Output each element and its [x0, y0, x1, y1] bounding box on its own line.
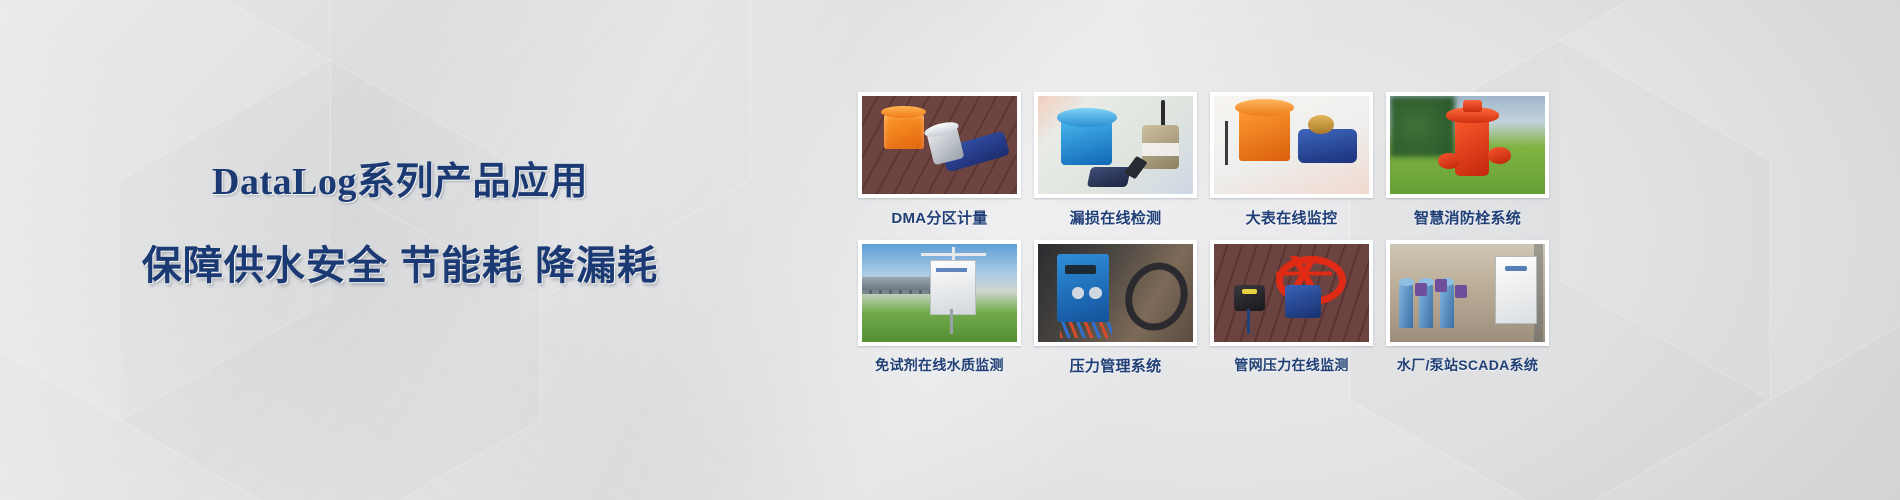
product-thumbnail[interactable]	[1386, 92, 1549, 198]
product-caption: DMA分区计量	[891, 207, 987, 228]
large-meter-online-monitoring-photo	[1214, 96, 1369, 194]
product-caption: 免试剂在线水质监测	[875, 355, 1004, 375]
product-card-water-quality-monitoring[interactable]: 免试剂在线水质监测	[858, 240, 1021, 378]
smart-hydrant-system-photo	[1390, 96, 1545, 194]
product-thumbnail[interactable]	[1034, 240, 1197, 346]
product-thumbnail[interactable]	[1034, 92, 1197, 198]
product-thumbnail[interactable]	[1386, 240, 1549, 346]
pipe-network-pressure-photo	[1214, 244, 1369, 342]
product-application-banner: DataLog系列产品应用 保障供水安全 节能耗 降漏耗 DMA分区计量 漏损在…	[0, 0, 1900, 500]
product-caption: 管网压力在线监测	[1234, 355, 1348, 375]
product-thumbnail[interactable]	[1210, 92, 1373, 198]
dma-zone-metering-photo	[862, 96, 1017, 194]
product-card-waterworks-scada-system[interactable]: 水厂/泵站SCADA系统	[1386, 240, 1549, 378]
product-card-pressure-management-system[interactable]: 压力管理系统	[1034, 240, 1197, 378]
reagent-free-water-quality-photo	[862, 244, 1017, 342]
leakage-online-detection-photo	[1038, 96, 1193, 194]
product-card-large-meter-monitoring[interactable]: 大表在线监控	[1210, 92, 1373, 230]
product-caption: 漏损在线检测	[1070, 207, 1162, 228]
product-card-dma-zone-metering[interactable]: DMA分区计量	[858, 92, 1021, 230]
product-card-leakage-online-detection[interactable]: 漏损在线检测	[1034, 92, 1197, 230]
waterworks-pump-scada-photo	[1390, 244, 1545, 342]
product-thumbnail[interactable]	[858, 240, 1021, 346]
product-thumbnail[interactable]	[1210, 240, 1373, 346]
product-card-pipe-network-pressure[interactable]: 管网压力在线监测	[1210, 240, 1373, 378]
headline-primary: DataLog系列产品应用	[0, 150, 800, 205]
product-caption: 水厂/泵站SCADA系统	[1397, 355, 1538, 375]
product-card-smart-hydrant-system[interactable]: 智慧消防栓系统	[1386, 92, 1549, 230]
product-grid: DMA分区计量 漏损在线检测 大表在线监控	[858, 92, 1548, 378]
headline-secondary: 保障供水安全 节能耗 降漏耗	[0, 233, 800, 291]
product-caption: 智慧消防栓系统	[1414, 207, 1521, 228]
product-thumbnail[interactable]	[858, 92, 1021, 198]
product-caption: 压力管理系统	[1070, 355, 1162, 376]
product-caption: 大表在线监控	[1246, 207, 1338, 228]
headline-block: DataLog系列产品应用 保障供水安全 节能耗 降漏耗	[0, 150, 800, 291]
pressure-management-system-photo	[1038, 244, 1193, 342]
